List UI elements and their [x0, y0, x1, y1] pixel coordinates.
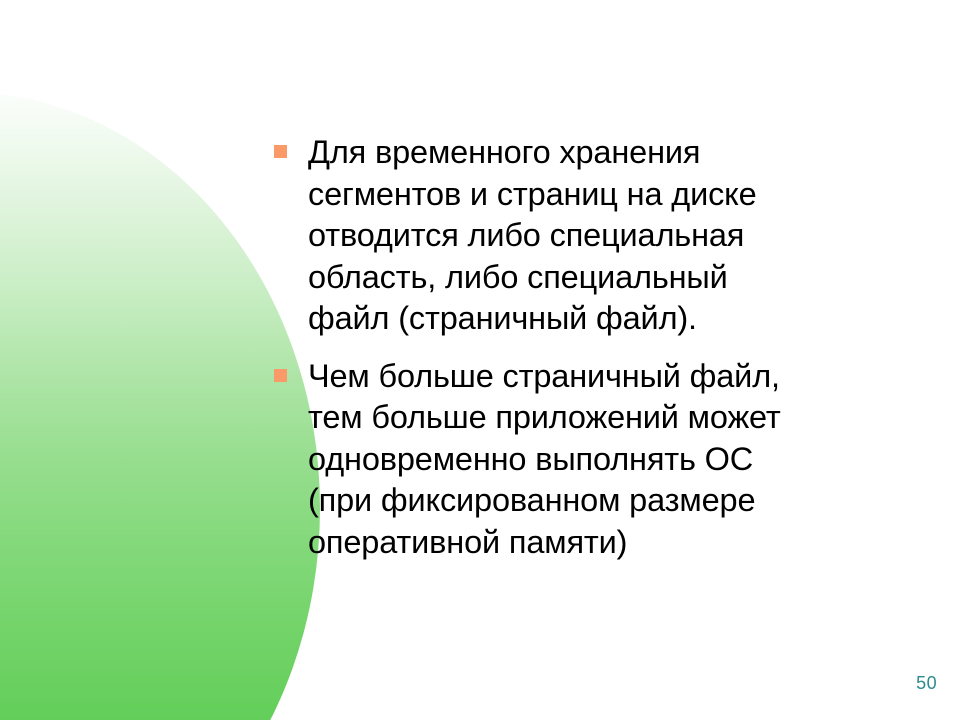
square-bullet-icon: [274, 145, 287, 158]
bullet-list-item: Чем больше страничный файл, тем больше п…: [262, 356, 802, 564]
bullet-list-item: Для временного хранения сегментов и стра…: [262, 132, 802, 340]
slide-canvas: Для временного хранения сегментов и стра…: [0, 0, 960, 720]
bullet-item-text: Для временного хранения сегментов и стра…: [308, 132, 802, 340]
page-number: 50: [916, 673, 937, 694]
bullet-item-text: Чем больше страничный файл, тем больше п…: [308, 356, 802, 564]
slide-body-content: Для временного хранения сегментов и стра…: [262, 132, 802, 563]
square-bullet-icon: [274, 369, 287, 382]
